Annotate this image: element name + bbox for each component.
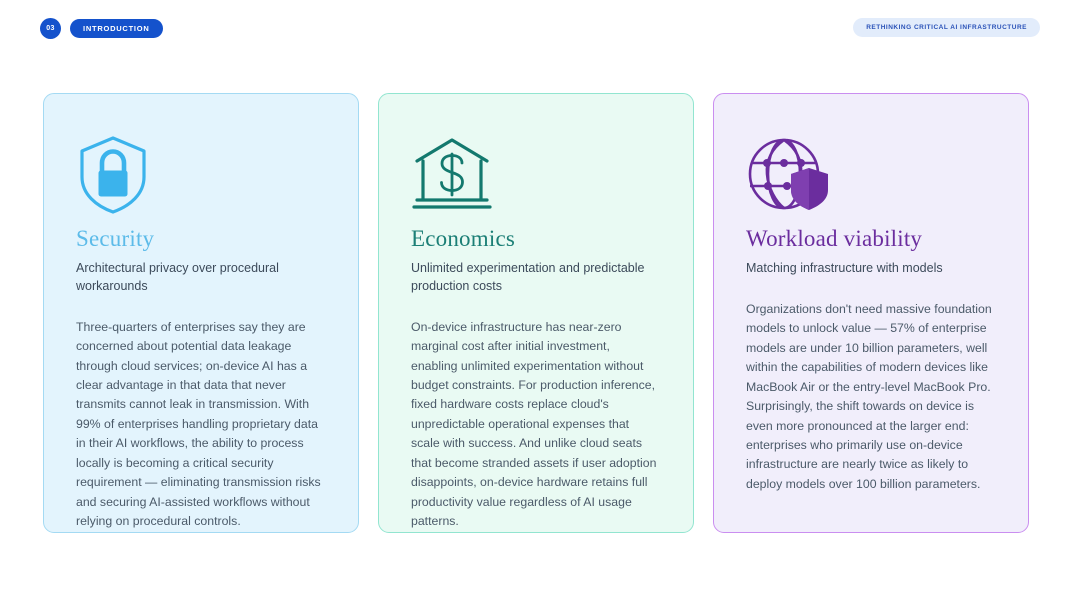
globe-shield-icon — [746, 132, 996, 218]
card-workload: Workload viability Matching infrastructu… — [713, 93, 1029, 533]
header-left-group: 03 INTRODUCTION — [40, 18, 163, 39]
slide-header: 03 INTRODUCTION RETHINKING CRITICAL AI I… — [0, 18, 1080, 40]
card-title: Workload viability — [746, 226, 996, 251]
card-subtitle: Matching infrastructure with models — [746, 260, 991, 278]
bank-dollar-icon — [411, 132, 661, 218]
section-number-badge: 03 — [40, 18, 61, 39]
card-grid: Security Architectural privacy over proc… — [43, 93, 1029, 533]
topic-label-pill: RETHINKING CRITICAL AI INFRASTRUCTURE — [853, 18, 1040, 37]
card-subtitle: Unlimited experimentation and predictabl… — [411, 260, 656, 296]
card-body-text: On-device infrastructure has near-zero m… — [411, 318, 659, 532]
slide-root: 03 INTRODUCTION RETHINKING CRITICAL AI I… — [0, 0, 1080, 600]
card-body-text: Organizations don't need massive foundat… — [746, 300, 994, 494]
card-economics: Economics Unlimited experimentation and … — [378, 93, 694, 533]
header-right-group: RETHINKING CRITICAL AI INFRASTRUCTURE — [853, 18, 1040, 37]
card-title: Security — [76, 226, 326, 251]
card-body-text: Three-quarters of enterprises say they a… — [76, 318, 324, 532]
shield-lock-icon — [76, 132, 326, 218]
card-security: Security Architectural privacy over proc… — [43, 93, 359, 533]
section-label-pill: INTRODUCTION — [70, 19, 163, 38]
card-subtitle: Architectural privacy over procedural wo… — [76, 260, 321, 296]
card-title: Economics — [411, 226, 661, 251]
